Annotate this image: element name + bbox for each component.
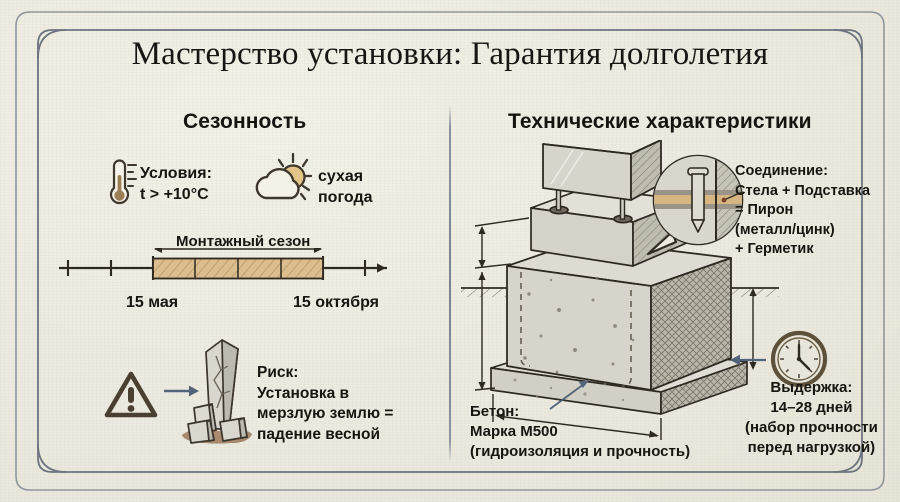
page-title: Мастерство установки: Гарантия долголети… [0,36,900,73]
curing-arrow-icon [728,352,768,368]
infographic-page: Мастерство установки: Гарантия долголети… [0,0,900,502]
warning-triangle-icon [104,370,158,420]
dry-weather-text: сухая погода [318,166,373,208]
fallen-monument-icon [176,336,258,446]
risk-text: Риск: Установка в мерзлую землю = падени… [257,363,393,445]
sun-cloud-icon [253,152,315,208]
joint-text: Соединение: Стела + Подставка = Пирон (м… [735,162,870,260]
conditions-text: Условия: t > +10°C [140,163,212,205]
concrete-text: Бетон: Марка М500 (гидроизоляция и прочн… [470,402,690,462]
season-label: Монтажный сезон [176,232,310,251]
column-divider [449,105,451,462]
thermometer-icon [100,156,140,208]
section-heading-seasonality: Сезонность [183,110,306,134]
installation-season-timeline [55,248,405,286]
section-heading-technical: Технические характеристики [508,110,812,134]
season-start-date: 15 мая [126,293,178,312]
curing-text: Выдержка: 14–28 дней (набор прочности пе… [745,378,878,458]
season-end-date: 15 октября [293,293,379,312]
